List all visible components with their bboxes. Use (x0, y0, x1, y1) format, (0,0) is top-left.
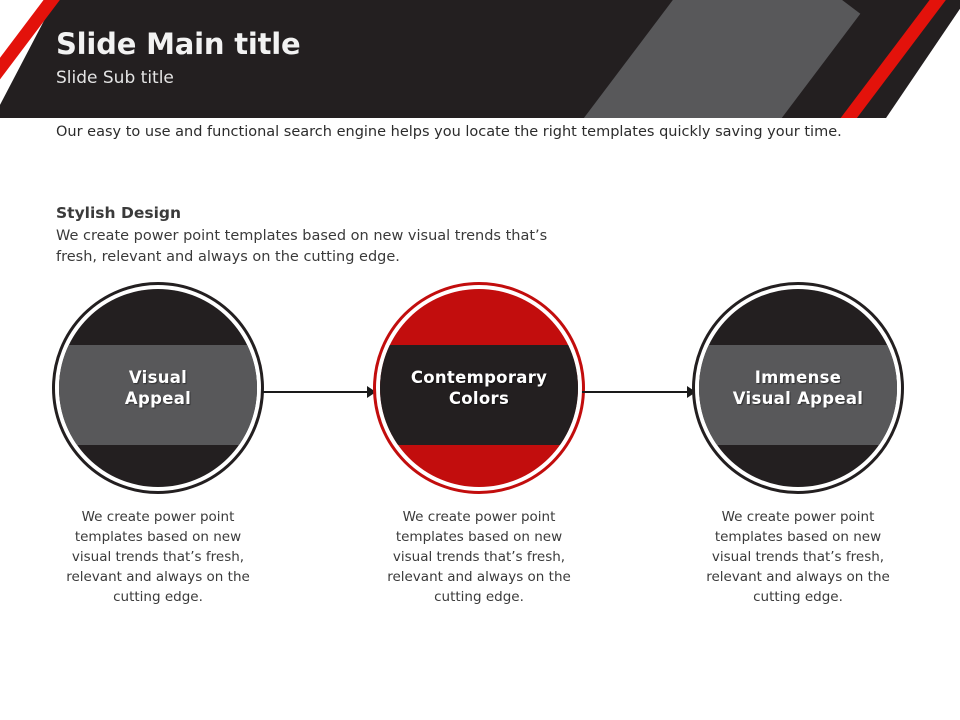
node-label-line-2: Visual Appeal (733, 389, 864, 408)
slide-header: Slide Main title Slide Sub title (0, 0, 960, 118)
node-label: Immense Visual Appeal (725, 367, 872, 409)
node-caption-text: We create power point templates based on… (372, 508, 586, 608)
section-block: Stylish Design We create power point tem… (56, 204, 676, 267)
node-disc: Visual Appeal (59, 289, 257, 487)
page-subtitle: Slide Sub title (56, 68, 300, 88)
diagram-node-contemporary-colors[interactable]: Contemporary Colors We create power poin… (372, 282, 586, 494)
node-ring: Contemporary Colors (373, 282, 585, 494)
arrow-right-icon (582, 386, 695, 398)
title-block: Slide Main title Slide Sub title (56, 28, 300, 89)
node-label-line-1: Visual (129, 368, 187, 387)
node-ring: Visual Appeal (52, 282, 264, 494)
page-title: Slide Main title (56, 28, 300, 60)
node-caption: We create power point templates based on… (372, 508, 586, 608)
arrow-line (262, 391, 375, 393)
node-disc: Contemporary Colors (380, 289, 578, 487)
process-diagram: Visual Appeal We create power point temp… (0, 282, 960, 622)
diagram-node-visual-appeal[interactable]: Visual Appeal We create power point temp… (51, 282, 265, 494)
node-caption-text: We create power point templates based on… (691, 508, 905, 608)
arrow-right-icon (262, 386, 375, 398)
node-label-line-1: Contemporary (411, 368, 547, 387)
intro-text: Our easy to use and functional search en… (56, 124, 842, 140)
node-caption: We create power point templates based on… (51, 508, 265, 608)
header-grey-diagonal-band (578, 0, 861, 118)
section-title: Stylish Design (56, 204, 676, 222)
node-label-line-2: Colors (449, 389, 509, 408)
node-label-line-2: Appeal (125, 389, 191, 408)
node-caption: We create power point templates based on… (691, 508, 905, 608)
arrow-line (582, 391, 695, 393)
node-label: Contemporary Colors (403, 367, 555, 409)
section-description: We create power point templates based on… (56, 226, 576, 267)
diagram-node-immense-visual-appeal[interactable]: Immense Visual Appeal We create power po… (691, 282, 905, 494)
node-label-line-1: Immense (755, 368, 842, 387)
node-label: Visual Appeal (117, 367, 199, 409)
node-disc: Immense Visual Appeal (699, 289, 897, 487)
node-caption-text: We create power point templates based on… (51, 508, 265, 608)
node-ring: Immense Visual Appeal (692, 282, 904, 494)
